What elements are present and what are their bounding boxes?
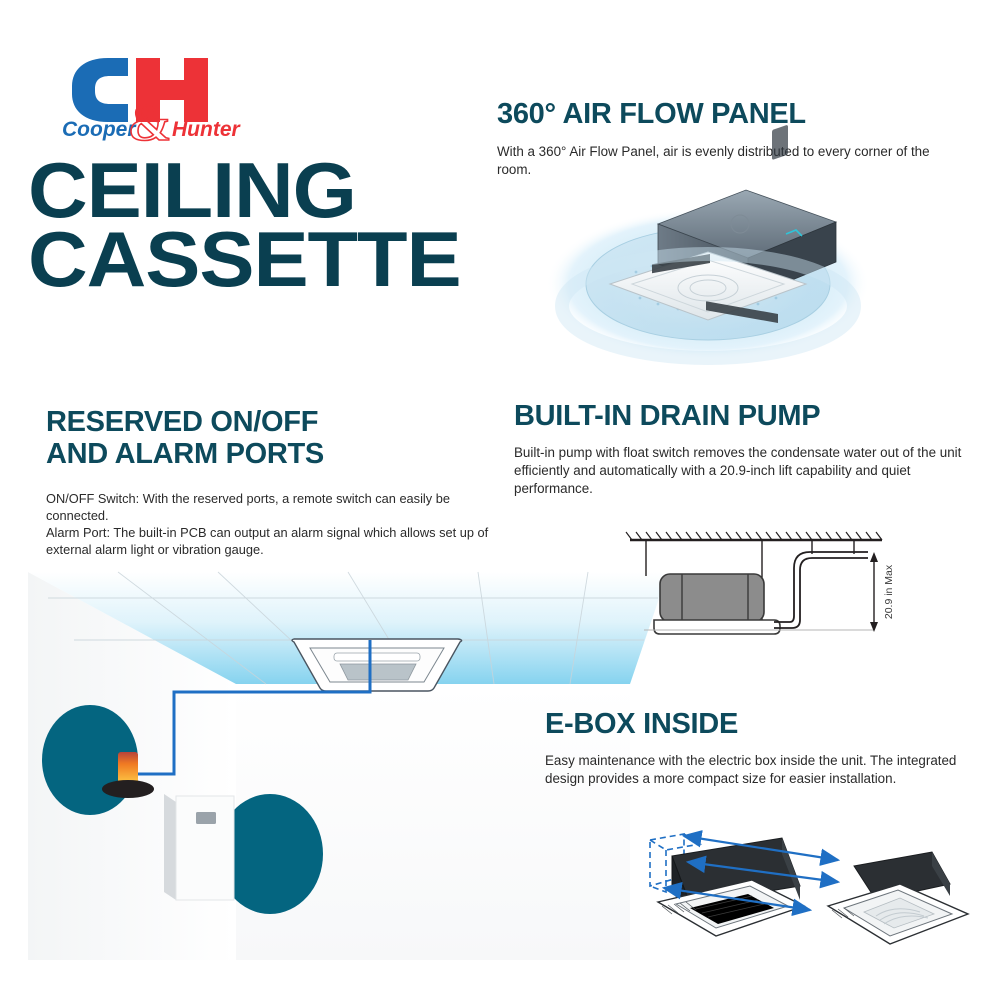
ebox-heading: E-BOX INSIDE [545,708,975,740]
ports-body-alarm: Alarm Port: The built-in PCB can output … [46,525,516,559]
section-drain-pump: BUILT-IN DRAIN PUMP Built-in pump with f… [514,400,974,498]
logo-hunter-text: Hunter [172,118,241,141]
logo-ampersand: & [128,95,171,152]
airflow-illustration [540,180,880,370]
wall-switch-plate [164,794,234,900]
infographic-page: Cooper & Hunter CEILING CASSETTE 360° AI… [0,0,1000,1000]
section-ebox-inside: E-BOX INSIDE Easy maintenance with the e… [545,708,975,788]
ebox-illustration [632,828,977,968]
section-air-flow-panel: 360° AIR FLOW PANEL With a 360° Air Flow… [497,98,957,179]
ebox-body: Easy maintenance with the electric box i… [545,752,975,787]
drain-pipe [774,558,868,628]
ebox-artwork [632,828,977,968]
drain-pump-diagram: 20.9 in Max [624,524,914,644]
ports-body-onoff: ON/OFF Switch: With the reserved ports, … [46,491,516,525]
drain-body: Built-in pump with float switch removes … [514,444,974,497]
lift-dimension-label: 20.9 in Max [883,564,895,619]
drain-heading: BUILT-IN DRAIN PUMP [514,400,974,432]
airflow-heading: 360° AIR FLOW PANEL [497,98,957,130]
section-reserved-ports: RESERVED ON/OFF AND ALARM PORTS ON/OFF S… [46,406,516,559]
logo-cooper-text: Cooper [62,118,137,141]
drain-pipe-inner [774,552,868,622]
logo-c-shape [72,58,128,122]
airflow-body: With a 360° Air Flow Panel, air is evenl… [497,143,957,178]
page-title-line2: CASSETTE [28,225,494,294]
ceiling-hatch [626,532,882,540]
cooper-hunter-logo: Cooper & Hunter [62,56,272,142]
ceiling-cassette-unit [292,639,462,691]
logo-artwork: Cooper & Hunter [62,56,272,142]
page-title: CEILING CASSETTE [28,156,494,293]
unit-right-integrated [828,852,968,944]
drain-pump-artwork: 20.9 in Max [624,524,914,644]
unit-left-with-external-ebox [650,834,804,936]
lift-dimension-arrow [870,552,878,632]
indoor-unit-body [654,574,780,634]
ports-heading-line2: AND ALARM PORTS [46,438,324,470]
ports-heading: RESERVED ON/OFF AND ALARM PORTS [46,406,516,471]
ports-heading-line1: RESERVED ON/OFF [46,406,318,438]
airflow-artwork [540,180,880,370]
